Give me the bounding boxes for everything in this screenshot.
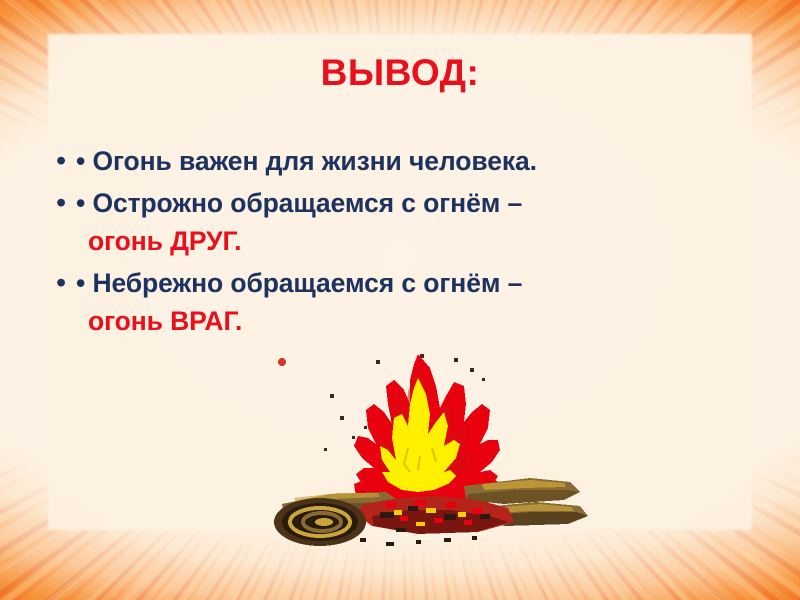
bullet-main-text: • Небрежно обращаемся с огнём – bbox=[76, 268, 522, 298]
list-item: • • Острожно обращаемся с огнём – огонь … bbox=[56, 184, 680, 260]
bullet-marker-icon: • bbox=[56, 142, 76, 180]
bonfire-icon bbox=[268, 352, 598, 567]
bullet-main-text: • Острожно обращаемся с огнём – bbox=[76, 188, 522, 218]
list-item: • • Небрежно обращаемся с огнём – огонь … bbox=[56, 264, 680, 340]
bullet-text: • Огонь важен для жизни человека. bbox=[76, 142, 680, 180]
list-item: • • Огонь важен для жизни человека. bbox=[56, 142, 680, 180]
page-title: ВЫВОД: bbox=[0, 54, 800, 91]
bullet-main-text: • Огонь важен для жизни человека. bbox=[76, 146, 537, 176]
slide-content: ВЫВОД: • • Огонь важен для жизни человек… bbox=[0, 0, 800, 600]
bullet-marker-icon: • bbox=[56, 264, 76, 302]
bullet-highlight-text: огонь ВРАГ. bbox=[76, 302, 680, 340]
conclusion-bullet-list: • • Огонь важен для жизни человека. • • … bbox=[56, 142, 680, 344]
bullet-text: • Острожно обращаемся с огнём – огонь ДР… bbox=[76, 184, 680, 260]
slide: ВЫВОД: • • Огонь важен для жизни человек… bbox=[0, 0, 800, 600]
bullet-highlight-text: огонь ДРУГ. bbox=[76, 222, 680, 260]
bullet-marker-icon: • bbox=[56, 184, 76, 222]
bullet-text: • Небрежно обращаемся с огнём – огонь ВР… bbox=[76, 264, 680, 340]
